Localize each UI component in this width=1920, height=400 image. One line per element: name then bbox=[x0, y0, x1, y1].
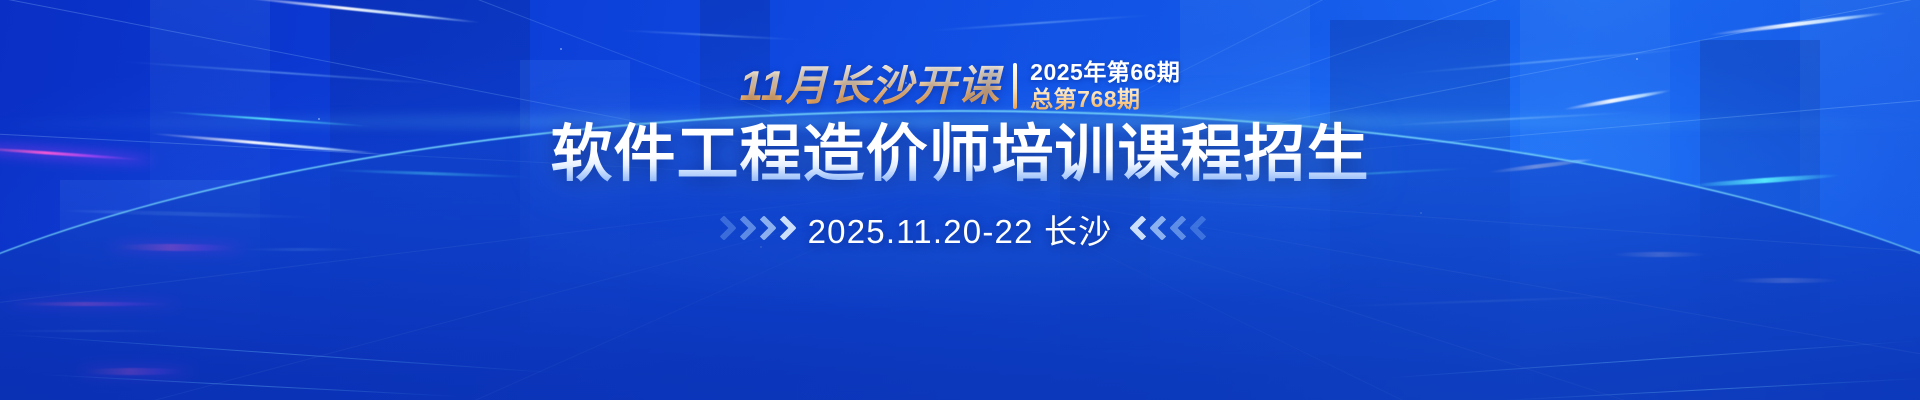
date-row: 2025.11.20-22 长沙 bbox=[713, 205, 1208, 253]
issue-line-2: 总第768期 bbox=[1030, 86, 1180, 113]
issue-line-1: 2025年第66期 bbox=[1030, 59, 1180, 86]
kicker-row: 11月长沙开课 2025年第66期 总第768期 bbox=[740, 58, 1181, 114]
page-title: 软件工程造价师培训课程招生 bbox=[550, 120, 1369, 189]
course-promo-banner: 11月长沙开课 2025年第66期 总第768期 软件工程造价师培训课程招生 2… bbox=[0, 0, 1920, 400]
kicker-text: 11月长沙开课 bbox=[740, 65, 1005, 107]
chevron-right-icon bbox=[713, 216, 790, 242]
vertical-divider bbox=[1013, 63, 1017, 109]
event-date-location: 2025.11.20-22 长沙 bbox=[808, 205, 1113, 253]
banner-content: 11月长沙开课 2025年第66期 总第768期 软件工程造价师培训课程招生 2… bbox=[0, 0, 1920, 400]
issue-block: 2025年第66期 总第768期 bbox=[1030, 59, 1180, 112]
chevron-left-icon bbox=[1130, 216, 1207, 242]
